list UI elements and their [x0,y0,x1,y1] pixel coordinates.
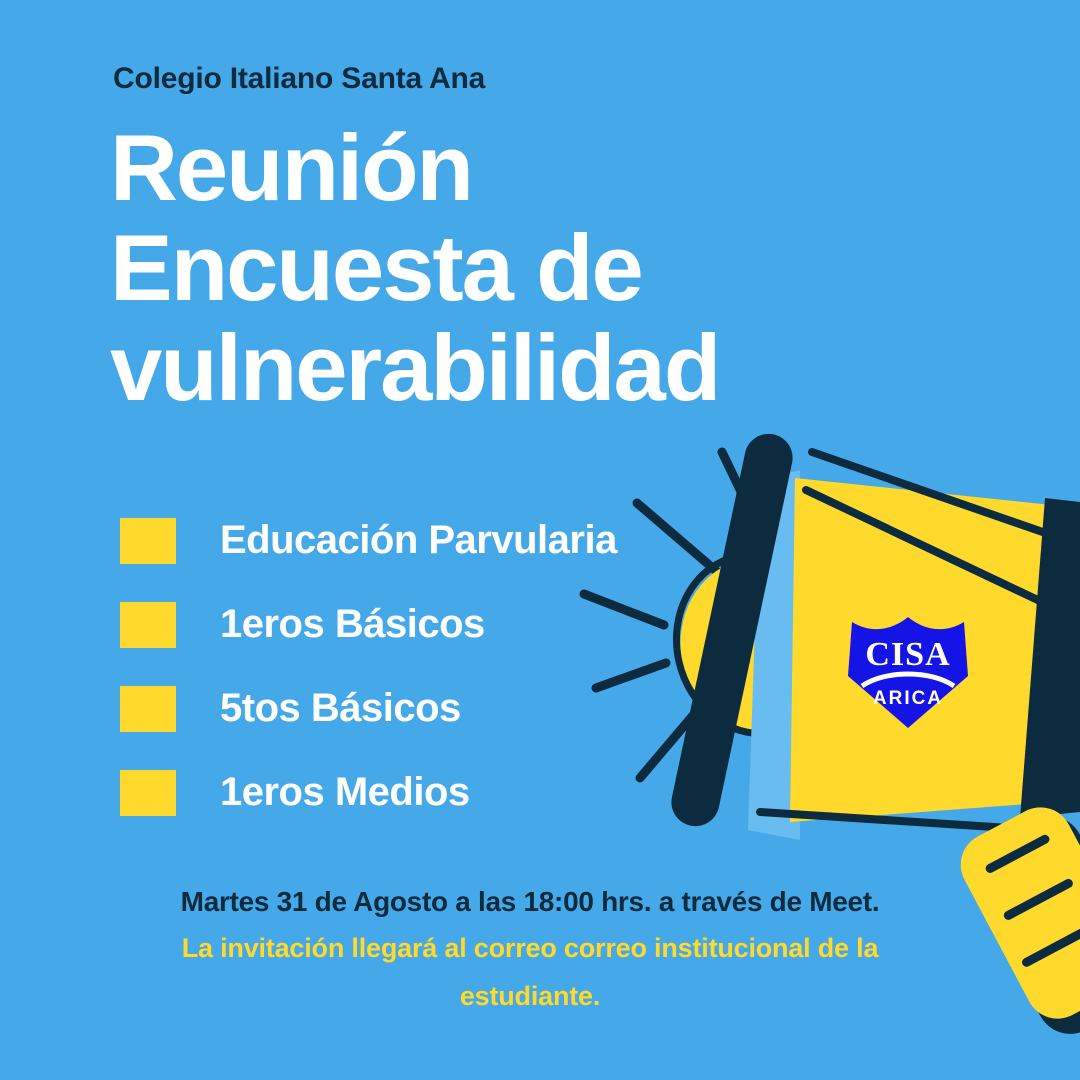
footer: Martes 31 de Agosto a las 18:00 hrs. a t… [90,880,970,1020]
list-item-label: 1eros Medios [220,766,470,818]
bullet-square-icon [120,602,176,648]
invitation-note: La invitación llegará al correo correo i… [90,924,970,1020]
list-item: 1eros Medios [120,770,740,854]
poster-canvas: CISA ARICA Colegio Italiano Santa Ana Re… [0,0,1080,1080]
headline-line-2: Encuesta de [110,218,970,318]
page-title: Reunión Encuesta de vulnerabilidad [110,118,970,418]
bullet-square-icon [120,770,176,816]
bullet-square-icon [120,686,176,732]
headline-line-3: vulnerabilidad [110,318,970,418]
poster-content: Colegio Italiano Santa Ana Reunión Encue… [0,0,1080,1080]
list-item: 1eros Básicos [120,602,740,686]
list-item: 5tos Básicos [120,686,740,770]
audience-list: Educación Parvularia 1eros Básicos 5tos … [120,518,740,854]
list-item-label: 5tos Básicos [220,682,461,734]
list-item: Educación Parvularia [120,518,740,602]
bullet-square-icon [120,518,176,564]
list-item-label: Educación Parvularia [220,514,617,566]
list-item-label: 1eros Básicos [220,598,485,650]
meeting-datetime: Martes 31 de Agosto a las 18:00 hrs. a t… [90,880,970,924]
organization-name: Colegio Italiano Santa Ana [113,62,485,96]
headline-line-1: Reunión [110,118,970,218]
